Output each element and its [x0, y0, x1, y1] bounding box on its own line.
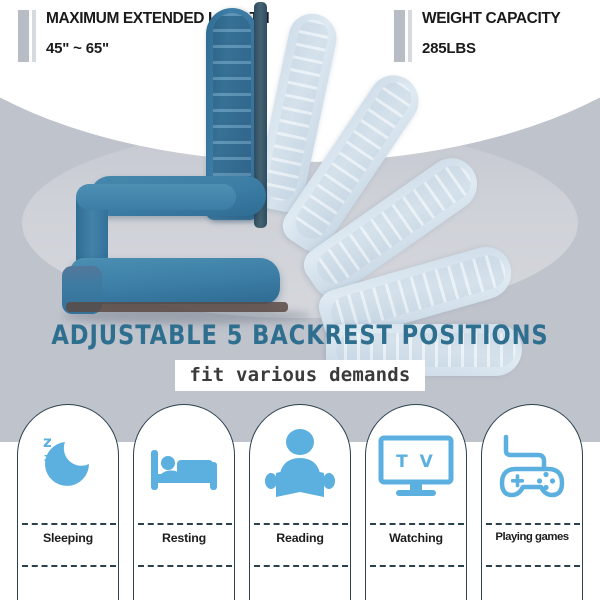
accent-bar-thin-icon: [32, 10, 36, 62]
spec-right-title: WEIGHT CAPACITY: [422, 10, 560, 27]
use-case-card-sleeping[interactable]: z z z Sleeping: [17, 404, 119, 600]
accent-bar-thick-icon: [18, 10, 29, 62]
use-case-card-resting[interactable]: Resting: [133, 404, 235, 600]
card-divider-bottom: [486, 565, 580, 567]
svg-text:T V: T V: [396, 452, 436, 472]
card-label-resting: Resting: [134, 531, 234, 545]
use-case-card-row: z z z Sleeping Re: [0, 404, 600, 600]
product-photo: [0, 80, 600, 320]
person-reading-book-icon: [250, 419, 350, 515]
page-title: ADJUSTABLE 5 BACKREST POSITIONS: [21, 320, 579, 351]
subtitle-wrapper: fit various demands: [0, 360, 600, 391]
floor-sofa-chair: [28, 80, 328, 320]
card-label-playing-games: Playing games: [482, 531, 582, 543]
bed-person-icon: [134, 419, 234, 515]
spec-weight-capacity: WEIGHT CAPACITY 285LBS: [394, 10, 560, 62]
gamepad-icon: [482, 419, 582, 515]
card-divider-top: [138, 523, 232, 525]
accent-bar-thick-icon: [394, 10, 405, 62]
card-label-watching: Watching: [366, 531, 466, 545]
card-divider-bottom: [254, 565, 348, 567]
card-divider-bottom: [138, 565, 232, 567]
chair-base: [66, 302, 288, 312]
spec-right-value: 285LBS: [422, 40, 560, 57]
card-divider-top: [22, 523, 116, 525]
accent-bars-left: [18, 10, 36, 62]
accent-bar-thin-icon: [408, 10, 412, 62]
card-divider-top: [486, 523, 580, 525]
chair-armrest-top: [76, 184, 236, 210]
tv-icon: T V: [366, 419, 466, 515]
moon-zzz-icon: z z z: [18, 419, 118, 515]
use-case-card-reading[interactable]: Reading: [249, 404, 351, 600]
svg-text:z: z: [44, 451, 50, 464]
card-divider-bottom: [22, 565, 116, 567]
accent-bars-right: [394, 10, 412, 62]
card-divider-top: [370, 523, 464, 525]
svg-text:z: z: [43, 433, 52, 451]
card-divider-bottom: [370, 565, 464, 567]
card-label-sleeping: Sleeping: [18, 531, 118, 545]
page-subtitle: fit various demands: [175, 360, 424, 391]
infographic-canvas: MAXIMUM EXTENDED LENGTH 45" ~ 65" WEIGHT…: [0, 0, 600, 600]
use-case-card-watching[interactable]: T V Watching: [365, 404, 467, 600]
svg-text:z: z: [53, 443, 61, 458]
use-case-card-playing-games[interactable]: Playing games: [481, 404, 583, 600]
card-divider-top: [254, 523, 348, 525]
card-label-reading: Reading: [250, 531, 350, 545]
